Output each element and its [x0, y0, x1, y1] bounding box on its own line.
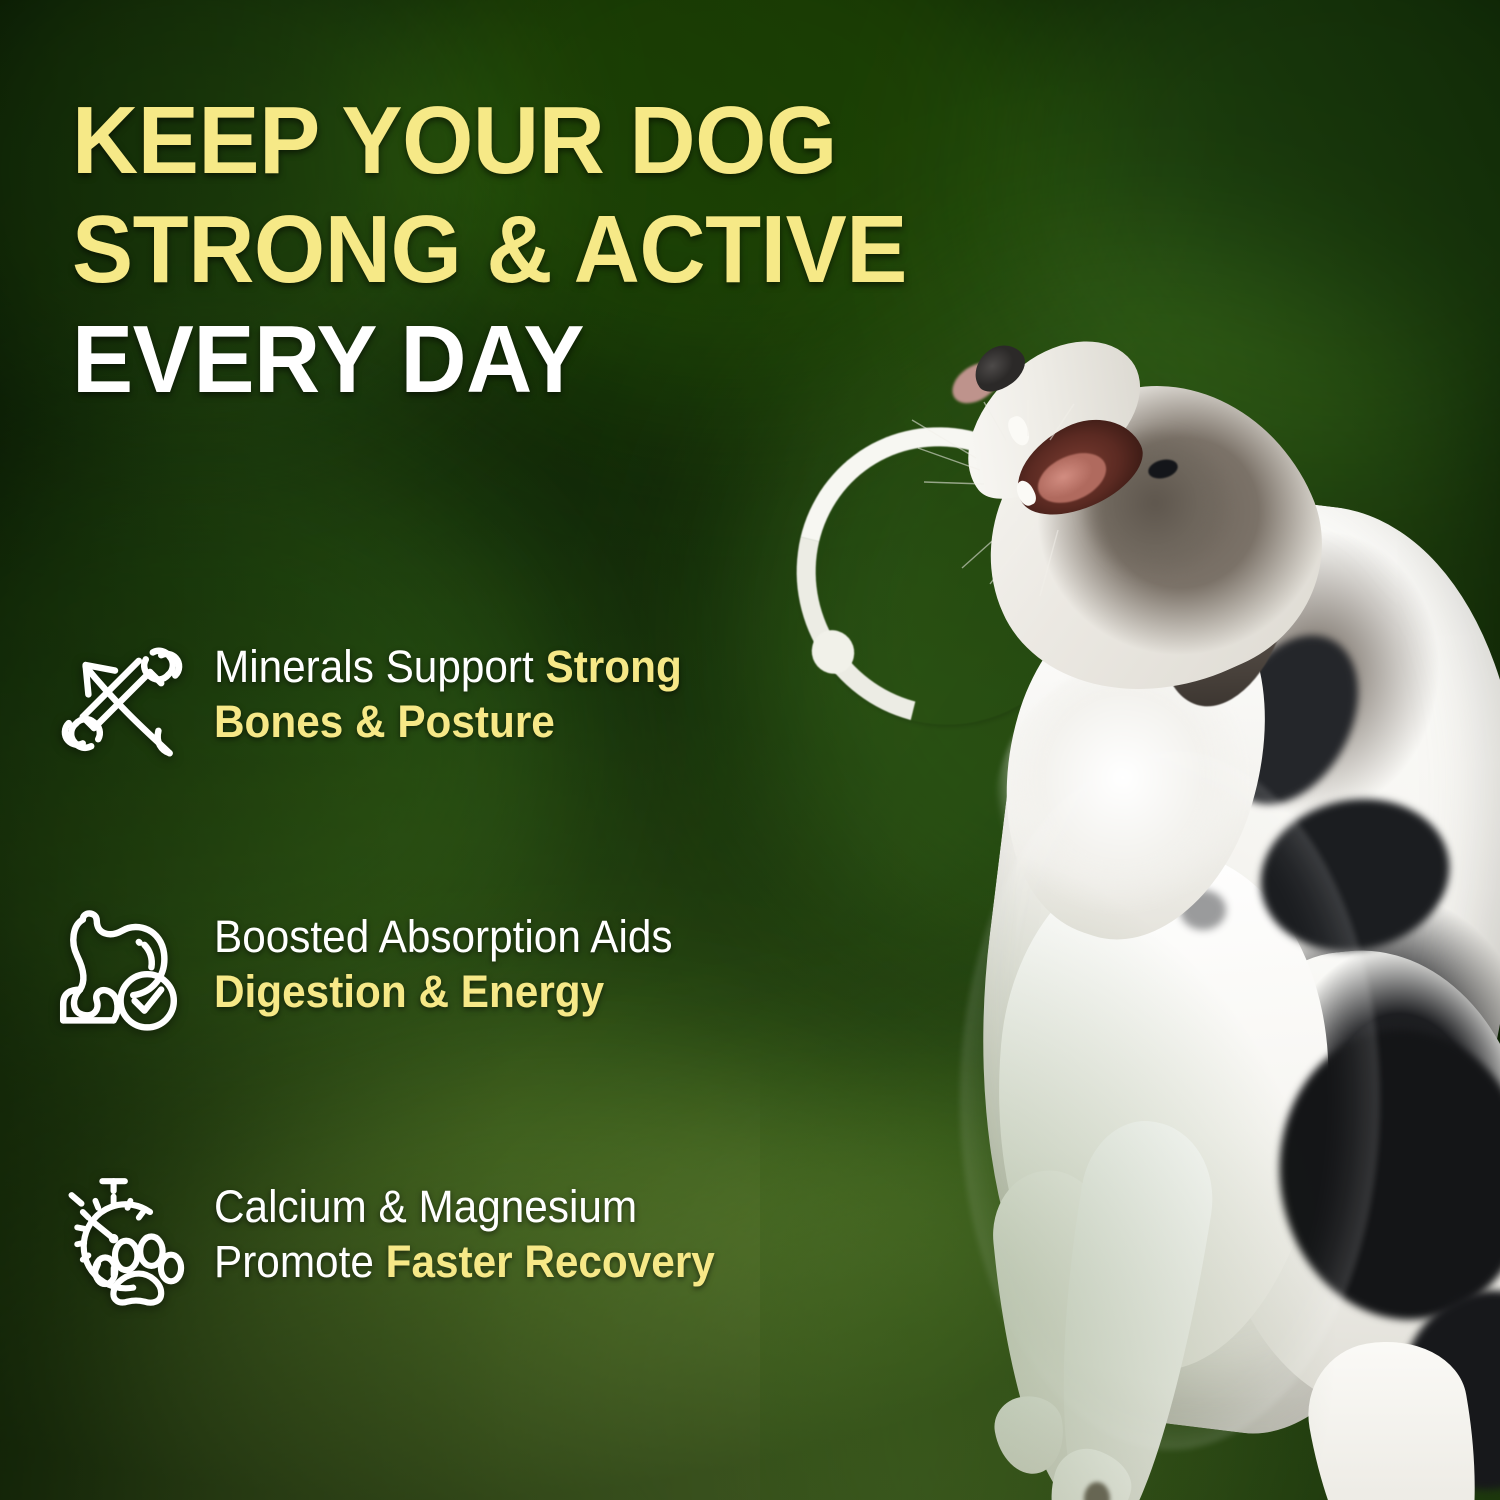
headline-line-3: EVERY DAY [72, 305, 1065, 414]
benefit-item-bones: Minerals Support Strong Bones & Posture [52, 636, 1012, 770]
page-title: KEEP YOUR DOG STRONG & ACTIVE EVERY DAY [72, 86, 1112, 414]
benefit-text-recovery: Calcium & Magnesium Promote Faster Recov… [214, 1176, 715, 1290]
benefit-text-digestion: Boosted Absorption Aids Digestion & Ener… [214, 906, 673, 1020]
benefit-line-2-highlight: Bones & Posture [214, 696, 555, 747]
stomach-check-icon [52, 900, 192, 1040]
benefit-list: Minerals Support Strong Bones & Posture [52, 636, 1012, 1310]
benefit-line-2-plain: Promote [214, 1236, 386, 1287]
dog-whiskers [910, 400, 1170, 600]
benefit-item-digestion: Boosted Absorption Aids Digestion & Ener… [52, 906, 1012, 1040]
benefit-line-1-plain: Calcium & Magnesium [214, 1181, 637, 1232]
benefit-item-recovery: Calcium & Magnesium Promote Faster Recov… [52, 1176, 1012, 1310]
benefit-line-1-highlight: Strong [546, 641, 682, 692]
benefit-text-bones: Minerals Support Strong Bones & Posture [214, 636, 682, 750]
benefit-line-1-plain: Minerals Support [214, 641, 546, 692]
benefit-line-1-plain: Boosted Absorption Aids [214, 911, 673, 962]
benefit-line-2-highlight: Faster Recovery [386, 1236, 715, 1287]
headline-line-1: KEEP YOUR DOG [72, 86, 1065, 195]
crossed-bone-arrow-icon [52, 630, 192, 770]
benefit-line-2-highlight: Digestion & Energy [214, 966, 604, 1017]
banner-canvas: KEEP YOUR DOG STRONG & ACTIVE EVERY DAY [0, 0, 1500, 1500]
headline-line-2: STRONG & ACTIVE [72, 195, 1065, 304]
stopwatch-paw-icon [52, 1170, 192, 1310]
dog-fur-highlight [960, 750, 1380, 1450]
